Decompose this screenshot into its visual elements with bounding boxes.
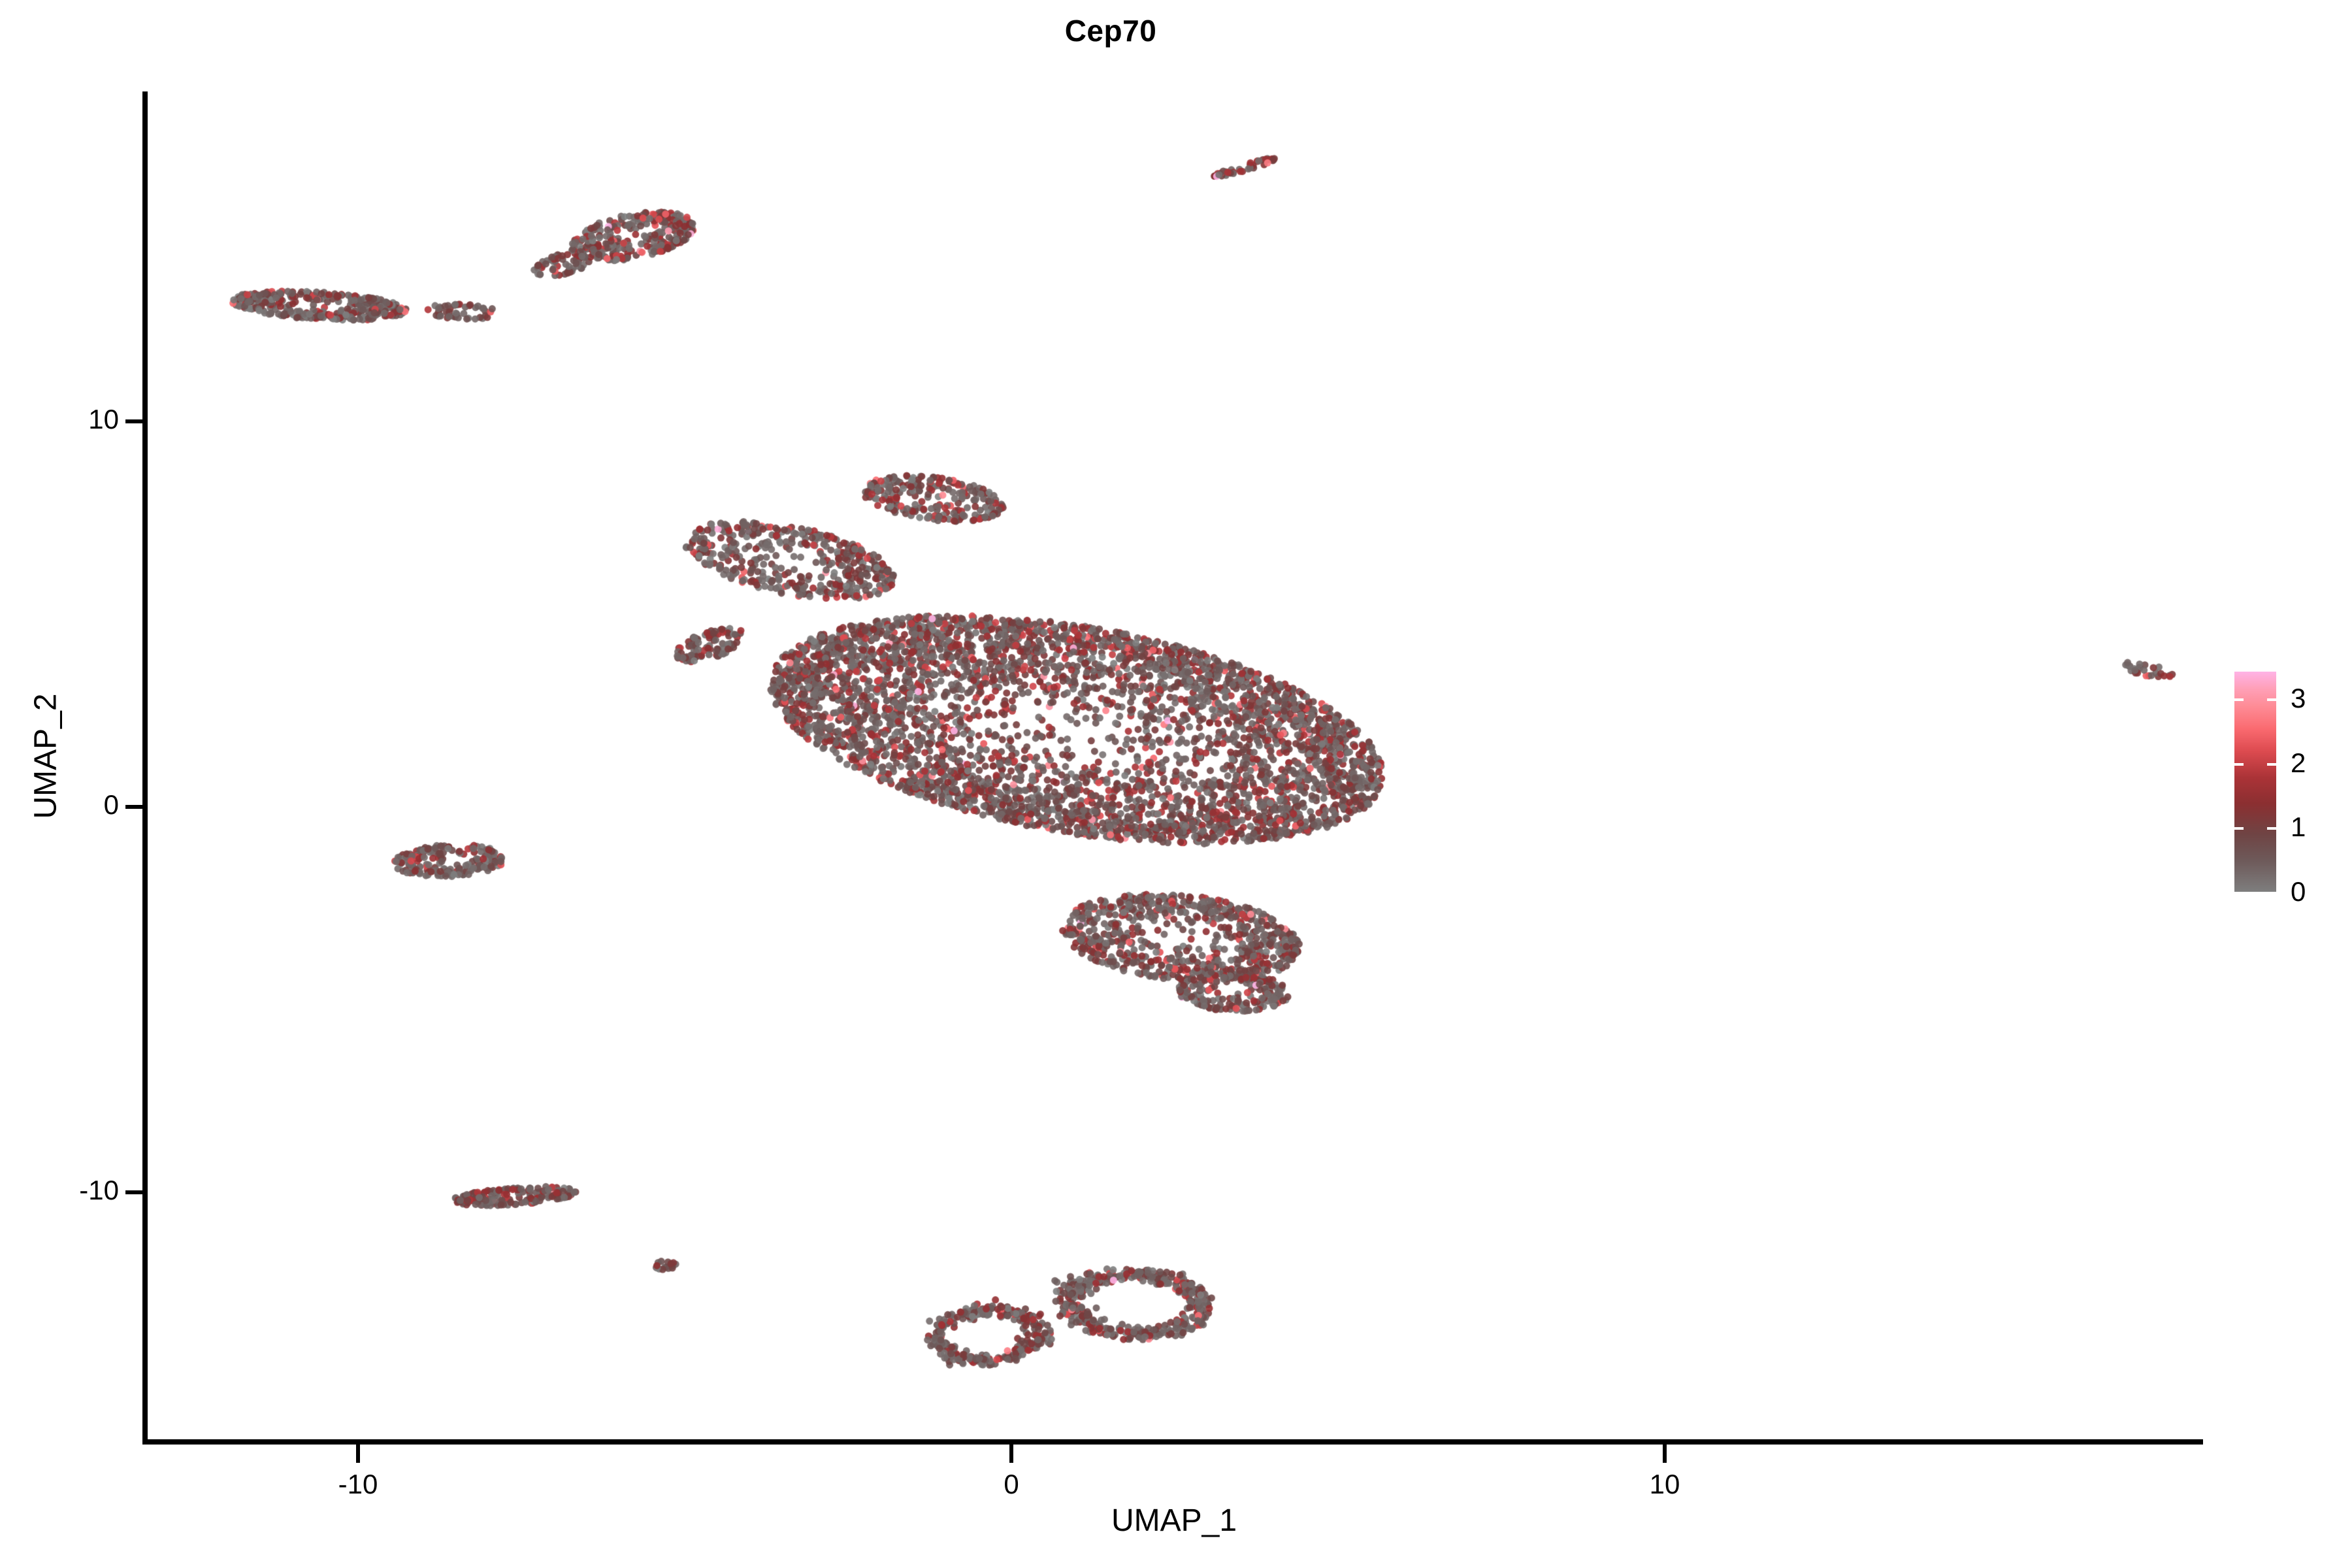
x-axis-line (142, 1439, 2203, 1445)
umap-feature-plot: Cep70 100-10 -10010 UMAP_1 UMAP_2 3210 (0, 0, 2352, 1568)
x-tick-mark (1663, 1445, 1667, 1463)
x-tick-label: -10 (293, 1469, 423, 1500)
scatter-plot-canvas (145, 91, 2203, 1441)
y-tick-mark (125, 419, 144, 423)
y-tick-mark (125, 805, 144, 809)
legend-tick-mark (2234, 892, 2244, 894)
x-tick-label: 0 (946, 1469, 1077, 1500)
legend-tick-mark (2234, 698, 2244, 701)
y-tick-label: 0 (104, 789, 119, 821)
x-tick-mark (1009, 1445, 1013, 1463)
legend-tick-label: 1 (2291, 813, 2306, 841)
y-tick-label: 10 (88, 404, 119, 435)
legend-tick-mark (2234, 763, 2244, 766)
y-axis-line (142, 91, 148, 1444)
legend-tick-mark (2267, 763, 2276, 766)
legend-tick-label: 2 (2291, 749, 2306, 777)
legend-tick-label: 3 (2291, 685, 2306, 712)
y-tick-mark (125, 1190, 144, 1194)
x-tick-mark (356, 1445, 360, 1463)
legend-tick-mark (2267, 698, 2276, 701)
legend-tick-mark (2267, 827, 2276, 830)
y-tick-label: -10 (79, 1175, 119, 1206)
color-legend: 3210 (2234, 666, 2345, 902)
legend-tick-mark (2267, 892, 2276, 894)
y-axis-title: UMAP_2 (28, 495, 64, 1018)
page-title: Cep70 (0, 13, 2221, 48)
x-axis-title: UMAP_1 (145, 1503, 2203, 1539)
color-gradient-bar (2234, 672, 2276, 892)
plot-panel (145, 91, 2203, 1441)
legend-tick-label: 0 (2291, 878, 2306, 906)
x-tick-label: 10 (1599, 1469, 1730, 1500)
legend-tick-mark (2234, 827, 2244, 830)
